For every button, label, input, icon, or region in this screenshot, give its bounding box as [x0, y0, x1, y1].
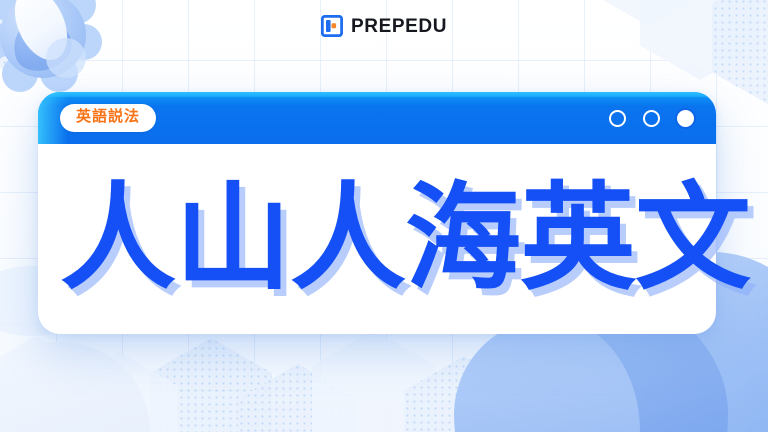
category-badge: 英語説法 [60, 104, 156, 132]
gear-cloud-icon [0, 0, 104, 96]
maximize-dot-icon[interactable] [643, 110, 660, 127]
window-controls [609, 110, 694, 127]
minimize-dot-icon[interactable] [609, 110, 626, 127]
close-dot-icon[interactable] [677, 110, 694, 127]
window-title-bar: 英語説法 [38, 92, 716, 144]
brand-name: PREPEDU [351, 17, 447, 36]
browser-window-card: 英語説法 [38, 92, 716, 334]
poster-canvas: PREPEDU 英語説法 人山人海英文 [0, 0, 768, 432]
brand-logo: PREPEDU [321, 15, 447, 37]
hexagon-shape [712, 0, 768, 106]
prepedu-square-icon [321, 15, 343, 37]
